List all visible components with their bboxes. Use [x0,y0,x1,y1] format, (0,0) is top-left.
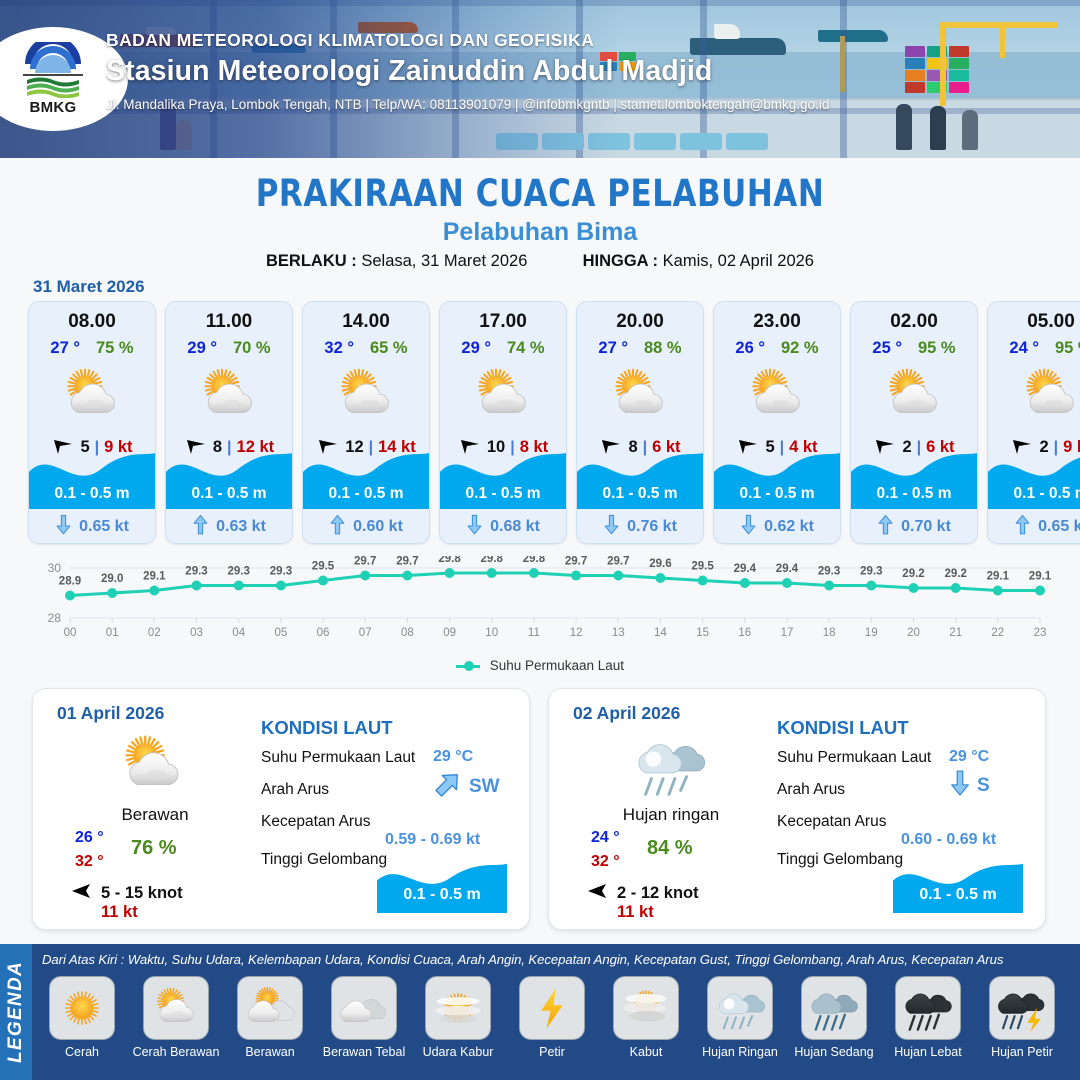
card-temperature: 27 ° [598,339,628,358]
legend-item: Berawan [224,976,316,1059]
card-temperature: 29 ° [461,339,491,358]
svg-text:29.3: 29.3 [185,566,207,578]
day-forecast-panel: 02 April 2026 Hujan ringan 24 ° 32 ° 84 … [548,688,1046,930]
card-time: 02.00 [851,311,977,333]
svg-text:29.3: 29.3 [818,566,840,578]
card-weather-icon [303,362,429,428]
current-direction-row: SW [433,769,500,804]
day-humidity: 76 % [131,837,177,860]
sst-line-chart: 2830 28.929.029.129.329.329.329.529.729.… [28,556,1052,651]
legend-item-label: Udara Kabur [423,1045,494,1059]
current-direction-value: S [977,775,990,797]
card-weather-icon [166,362,292,428]
legend-icon-box [143,976,209,1040]
legend-item-label: Hujan Ringan [702,1045,778,1059]
card-wave-graphic: 0.1 - 0.5 m [577,445,703,509]
page-header: BMKG BADAN METEOROLOGI KLIMATOLOGI DAN G… [0,0,1080,158]
svg-text:12: 12 [570,627,583,639]
card-time: 11.00 [166,311,292,333]
card-temperature: 25 ° [872,339,902,358]
hourly-forecast-card: 02.00 25 ° 95 % 2 | 6 kt 0.1 - 0.5 m 0.7… [850,301,978,544]
legend-item: Udara Kabur [412,976,504,1059]
card-current-speed: 0.65 kt [1038,518,1080,536]
hourly-forecast-strip: 08.00 27 ° 75 % 5 | 9 kt 0.1 - 0.5 m 0.6… [28,301,1080,544]
svg-text:29.1: 29.1 [1029,571,1052,583]
day-wave-height: 0.1 - 0.5 m [377,886,507,904]
card-weather-icon [988,362,1080,428]
svg-text:29.7: 29.7 [607,556,629,568]
svg-text:29.6: 29.6 [649,558,671,570]
legend-item: Berawan Tebal [318,976,410,1059]
svg-text:14: 14 [654,627,667,639]
svg-text:29.5: 29.5 [312,561,335,573]
card-wave-height: 0.1 - 0.5 m [166,485,292,503]
day-forecast-panel: 01 April 2026 Berawan 26 ° 32 ° 76 % 5 -… [32,688,530,930]
legend-icon-box [895,976,961,1040]
card-time: 20.00 [577,311,703,333]
current-direction-arrow-icon [949,769,971,802]
card-wave-graphic: 0.1 - 0.5 m [988,445,1080,509]
legend-item: Cerah [36,976,128,1059]
legend-icon-box [425,976,491,1040]
card-weather-icon [29,362,155,428]
card-wave-height: 0.1 - 0.5 m [577,485,703,503]
svg-text:03: 03 [190,627,203,639]
legend-item: Hujan Ringan [694,976,786,1059]
svg-text:13: 13 [612,627,625,639]
card-temperature: 27 ° [50,339,80,358]
card-current-row: 0.62 kt [714,514,840,540]
svg-text:09: 09 [443,627,456,639]
svg-text:08: 08 [401,627,414,639]
legend-item: Hujan Lebat [882,976,974,1059]
hourly-forecast-card: 14.00 32 ° 65 % 12 | 14 kt 0.1 - 0.5 m 0… [302,301,430,544]
card-humidity: 95 % [918,339,956,358]
card-current-speed: 0.70 kt [901,518,951,536]
contact-line: Jl. Mandalika Praya, Lombok Tengah, NTB … [106,97,829,112]
legend-item-label: Berawan [245,1045,294,1059]
day-condition: Berawan [55,805,255,825]
svg-text:29.2: 29.2 [945,568,967,580]
card-humidity: 95 % [1055,339,1080,358]
hourly-forecast-card: 23.00 26 ° 92 % 5 | 4 kt 0.1 - 0.5 m 0.6… [713,301,841,544]
legend-icon-box [989,976,1055,1040]
svg-text:29.2: 29.2 [902,568,924,580]
legend-item-label: Petir [539,1045,565,1059]
svg-text:11: 11 [528,627,540,639]
hourly-forecast-card: 20.00 27 ° 88 % 8 | 6 kt 0.1 - 0.5 m 0.7… [576,301,704,544]
legend-item-label: Kabut [630,1045,663,1059]
hourly-forecast-card: 11.00 29 ° 70 % 8 | 12 kt 0.1 - 0.5 m 0.… [165,301,293,544]
card-wave-height: 0.1 - 0.5 m [851,485,977,503]
agency-name: BADAN METEOROLOGI KLIMATOLOGI DAN GEOFIS… [106,30,829,51]
card-wave-graphic: 0.1 - 0.5 m [714,445,840,509]
svg-text:29.8: 29.8 [438,556,461,565]
svg-text:29.4: 29.4 [776,563,799,575]
sst-value: 29 °C [433,748,473,766]
day-wind-range: 2 - 12 knot [617,884,699,903]
station-name: Stasiun Meteorologi Zainuddin Abdul Madj… [106,55,829,88]
card-wave-graphic: 0.1 - 0.5 m [29,445,155,509]
current-direction-arrow-icon [329,514,346,540]
card-current-row: 0.76 kt [577,514,703,540]
svg-text:19: 19 [865,627,878,639]
card-weather-icon [440,362,566,428]
legenda-sidebar-label: LEGENDA [5,961,27,1063]
bmkg-logo-mark [17,42,89,98]
current-direction-arrow-icon [466,514,483,540]
card-current-row: 0.70 kt [851,514,977,540]
day-gust: 11 kt [617,903,654,922]
card-temperature: 29 ° [187,339,217,358]
current-direction-arrow-icon [433,769,463,804]
current-direction-label: Arah Arus [777,781,845,799]
current-direction-arrow-icon [603,514,620,540]
svg-text:29.7: 29.7 [354,556,376,568]
bmkg-logo-text: BMKG [29,99,76,116]
svg-text:29.8: 29.8 [523,556,546,565]
sea-conditions-title: KONDISI LAUT [261,717,393,739]
svg-text:29.0: 29.0 [101,573,123,585]
page-title: PRAKIRAAN CUACA PELABUHAN [38,172,1042,215]
page-subtitle: Pelabuhan Bima [0,218,1080,247]
hourly-date-label: 31 Maret 2026 [33,277,145,297]
svg-text:29.1: 29.1 [143,571,166,583]
svg-text:17: 17 [781,627,794,639]
card-wave-graphic: 0.1 - 0.5 m [303,445,429,509]
wind-direction-arrow-icon [585,879,609,908]
card-humidity: 74 % [507,339,545,358]
card-wave-height: 0.1 - 0.5 m [29,485,155,503]
svg-text:04: 04 [232,627,245,639]
svg-text:29.1: 29.1 [987,571,1010,583]
svg-text:07: 07 [359,627,372,639]
legend-caption: Dari Atas Kiri : Waktu, Suhu Udara, Kele… [42,952,1003,967]
card-weather-icon [577,362,703,428]
legend-item: Petir [506,976,598,1059]
legend-item-list: Cerah Cerah Berawan Berawan [36,976,1076,1059]
svg-text:29.3: 29.3 [228,566,250,578]
legend-item-label: Hujan Lebat [894,1045,961,1059]
card-wave-height: 0.1 - 0.5 m [714,485,840,503]
card-humidity: 65 % [370,339,408,358]
legend-icon-box [331,976,397,1040]
legend-icon-box [707,976,773,1040]
sea-conditions-title: KONDISI LAUT [777,717,909,739]
legend-icon-box [519,976,585,1040]
svg-text:29.7: 29.7 [396,556,418,568]
day-gust: 11 kt [101,903,138,922]
card-current-row: 0.60 kt [303,514,429,540]
hourly-forecast-card: 17.00 29 ° 74 % 10 | 8 kt 0.1 - 0.5 m 0.… [439,301,567,544]
card-time: 08.00 [29,311,155,333]
svg-text:30: 30 [48,561,62,575]
valid-until-value: Kamis, 02 April 2026 [663,252,814,270]
legend-item-label: Hujan Petir [991,1045,1053,1059]
svg-text:00: 00 [64,627,77,639]
current-speed-value: 0.59 - 0.69 kt [385,831,480,849]
sst-label: Suhu Permukaan Laut [261,749,415,767]
card-current-speed: 0.68 kt [490,518,540,536]
current-direction-label: Arah Arus [261,781,329,799]
svg-text:20: 20 [907,627,920,639]
chart-legend-swatch [456,665,480,668]
legend-item-label: Hujan Sedang [794,1045,873,1059]
svg-text:29.7: 29.7 [565,556,587,568]
card-current-speed: 0.60 kt [353,518,403,536]
svg-text:29.3: 29.3 [270,566,292,578]
card-time: 05.00 [988,311,1080,333]
card-temperature: 24 ° [1009,339,1039,358]
current-speed-label: Kecepatan Arus [777,813,886,831]
legend-section: LEGENDA Dari Atas Kiri : Waktu, Suhu Uda… [0,944,1080,1080]
valid-until-label: HINGGA : [583,252,658,270]
day-wave-graphic: 0.1 - 0.5 m [377,857,507,913]
day-wind-range: 5 - 15 knot [101,884,183,903]
svg-text:29.5: 29.5 [691,561,714,573]
svg-text:16: 16 [738,627,751,639]
legend-item-label: Cerah [65,1045,99,1059]
card-temperature: 32 ° [324,339,354,358]
svg-text:29.8: 29.8 [481,556,504,565]
wave-height-label: Tinggi Gelombang [777,851,903,869]
chart-legend: Suhu Permukaan Laut [0,658,1080,673]
card-time: 23.00 [714,311,840,333]
day-condition: Hujan ringan [571,805,771,825]
hourly-forecast-card: 05.00 24 ° 95 % 2 | 9 kt 0.1 - 0.5 m 0.6… [987,301,1080,544]
valid-from-value: Selasa, 31 Maret 2026 [361,252,527,270]
svg-text:28: 28 [48,611,62,625]
card-current-row: 0.65 kt [988,514,1080,540]
day-temp-max: 32 ° [591,853,620,871]
legend-icon-box [49,976,115,1040]
card-time: 17.00 [440,311,566,333]
card-current-row: 0.65 kt [29,514,155,540]
card-humidity: 88 % [644,339,682,358]
svg-text:05: 05 [275,627,288,639]
current-speed-label: Kecepatan Arus [261,813,370,831]
card-humidity: 75 % [96,339,134,358]
current-direction-arrow-icon [55,514,72,540]
current-direction-arrow-icon [877,514,894,540]
sst-value: 29 °C [949,748,989,766]
day-temp-min: 26 ° [75,829,104,847]
card-wave-height: 0.1 - 0.5 m [988,485,1080,503]
day-wave-height: 0.1 - 0.5 m [893,886,1023,904]
chart-legend-label: Suhu Permukaan Laut [490,658,624,673]
legend-item-label: Cerah Berawan [133,1045,220,1059]
day-date: 01 April 2026 [57,703,164,724]
legend-icon-box [613,976,679,1040]
day-weather-icon [93,727,213,803]
card-current-row: 0.68 kt [440,514,566,540]
current-direction-arrow-icon [740,514,757,540]
card-wave-height: 0.1 - 0.5 m [440,485,566,503]
card-wave-graphic: 0.1 - 0.5 m [440,445,566,509]
card-current-speed: 0.63 kt [216,518,266,536]
current-direction-arrow-icon [192,514,209,540]
card-weather-icon [714,362,840,428]
svg-text:01: 01 [106,627,119,639]
card-time: 14.00 [303,311,429,333]
day-humidity: 84 % [647,837,693,860]
card-current-speed: 0.76 kt [627,518,677,536]
day-date: 02 April 2026 [573,703,680,724]
svg-text:02: 02 [148,627,161,639]
card-current-speed: 0.62 kt [764,518,814,536]
card-humidity: 92 % [781,339,819,358]
validity-row: BERLAKU : Selasa, 31 Maret 2026 HINGGA :… [0,252,1080,271]
wave-height-label: Tinggi Gelombang [261,851,387,869]
card-wave-graphic: 0.1 - 0.5 m [851,445,977,509]
card-weather-icon [851,362,977,428]
svg-text:15: 15 [696,627,709,639]
valid-from-label: BERLAKU : [266,252,357,270]
svg-text:29.3: 29.3 [860,566,882,578]
current-speed-value: 0.60 - 0.69 kt [901,831,996,849]
day-weather-icon [609,727,729,803]
svg-text:23: 23 [1034,627,1047,639]
svg-text:21: 21 [949,627,962,639]
legend-icon-box [237,976,303,1040]
card-wave-graphic: 0.1 - 0.5 m [166,445,292,509]
day-temp-max: 32 ° [75,853,104,871]
legend-item: Hujan Sedang [788,976,880,1059]
card-current-speed: 0.65 kt [79,518,129,536]
svg-text:10: 10 [485,627,498,639]
legenda-sidebar: LEGENDA [0,944,32,1080]
legend-item: Kabut [600,976,692,1059]
legend-item: Hujan Petir [976,976,1068,1059]
legend-item: Cerah Berawan [130,976,222,1059]
legend-item-label: Berawan Tebal [323,1045,405,1059]
hourly-forecast-card: 08.00 27 ° 75 % 5 | 9 kt 0.1 - 0.5 m 0.6… [28,301,156,544]
svg-text:29.4: 29.4 [734,563,757,575]
card-humidity: 70 % [233,339,271,358]
current-direction-row: S [949,769,990,802]
wind-direction-arrow-icon [69,879,93,908]
day-temp-min: 24 ° [591,829,620,847]
sst-label: Suhu Permukaan Laut [777,749,931,767]
card-wave-height: 0.1 - 0.5 m [303,485,429,503]
current-direction-arrow-icon [1014,514,1031,540]
legend-icon-box [801,976,867,1040]
day-wave-graphic: 0.1 - 0.5 m [893,857,1023,913]
svg-text:06: 06 [317,627,330,639]
current-direction-value: SW [469,776,500,798]
svg-text:28.9: 28.9 [59,576,81,588]
card-temperature: 26 ° [735,339,765,358]
svg-text:22: 22 [991,627,1004,639]
card-current-row: 0.63 kt [166,514,292,540]
svg-text:18: 18 [823,627,836,639]
